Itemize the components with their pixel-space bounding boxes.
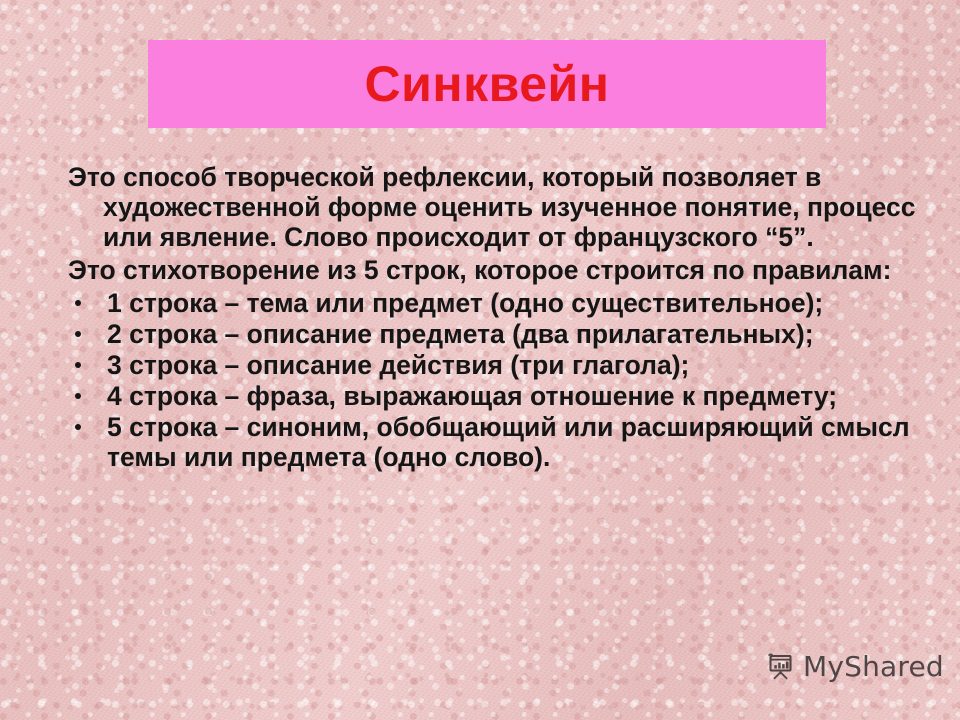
list-item: 5 строка – синоним, обобщающий или расши…: [68, 412, 920, 472]
list-item: 1 строка – тема или предмет (одно сущест…: [68, 288, 920, 318]
list-item-label: 1 строка – тема или предмет (одно сущест…: [107, 288, 823, 318]
page-title: Синквейн: [365, 59, 610, 109]
slide-canvas: Синквейн Это способ творческой рефлексии…: [0, 0, 960, 720]
slide-body: Это способ творческой рефлексии, который…: [68, 162, 920, 473]
presentation-board-icon: [766, 652, 796, 682]
bullet-dot-icon: [75, 300, 81, 306]
list-item: 4 строка – фраза, выражающая отношение к…: [68, 381, 920, 411]
list-item: 3 строка – описание действия (три глагол…: [68, 350, 920, 380]
title-banner: Синквейн: [148, 40, 826, 128]
rules-list: 1 строка – тема или предмет (одно сущест…: [68, 288, 920, 472]
bullet-dot-icon: [75, 331, 81, 337]
paragraph-definition: Это способ творческой рефлексии, который…: [68, 162, 920, 252]
watermark-label: MyShared: [803, 653, 944, 681]
myshared-watermark: MyShared: [766, 652, 944, 682]
list-item-label: 3 строка – описание действия (три глагол…: [107, 350, 689, 380]
list-item-label: 2 строка – описание предмета (два прилаг…: [107, 319, 814, 349]
list-item-label: 5 строка – синоним, обобщающий или расши…: [107, 412, 910, 472]
list-item: 2 строка – описание предмета (два прилаг…: [68, 319, 920, 349]
paragraph-rules-intro: Это стихотворение из 5 строк, которое ст…: [68, 255, 920, 285]
bullet-dot-icon: [75, 362, 81, 368]
list-item-label: 4 строка – фраза, выражающая отношение к…: [107, 381, 837, 411]
bullet-dot-icon: [75, 424, 81, 430]
bullet-dot-icon: [75, 393, 81, 399]
